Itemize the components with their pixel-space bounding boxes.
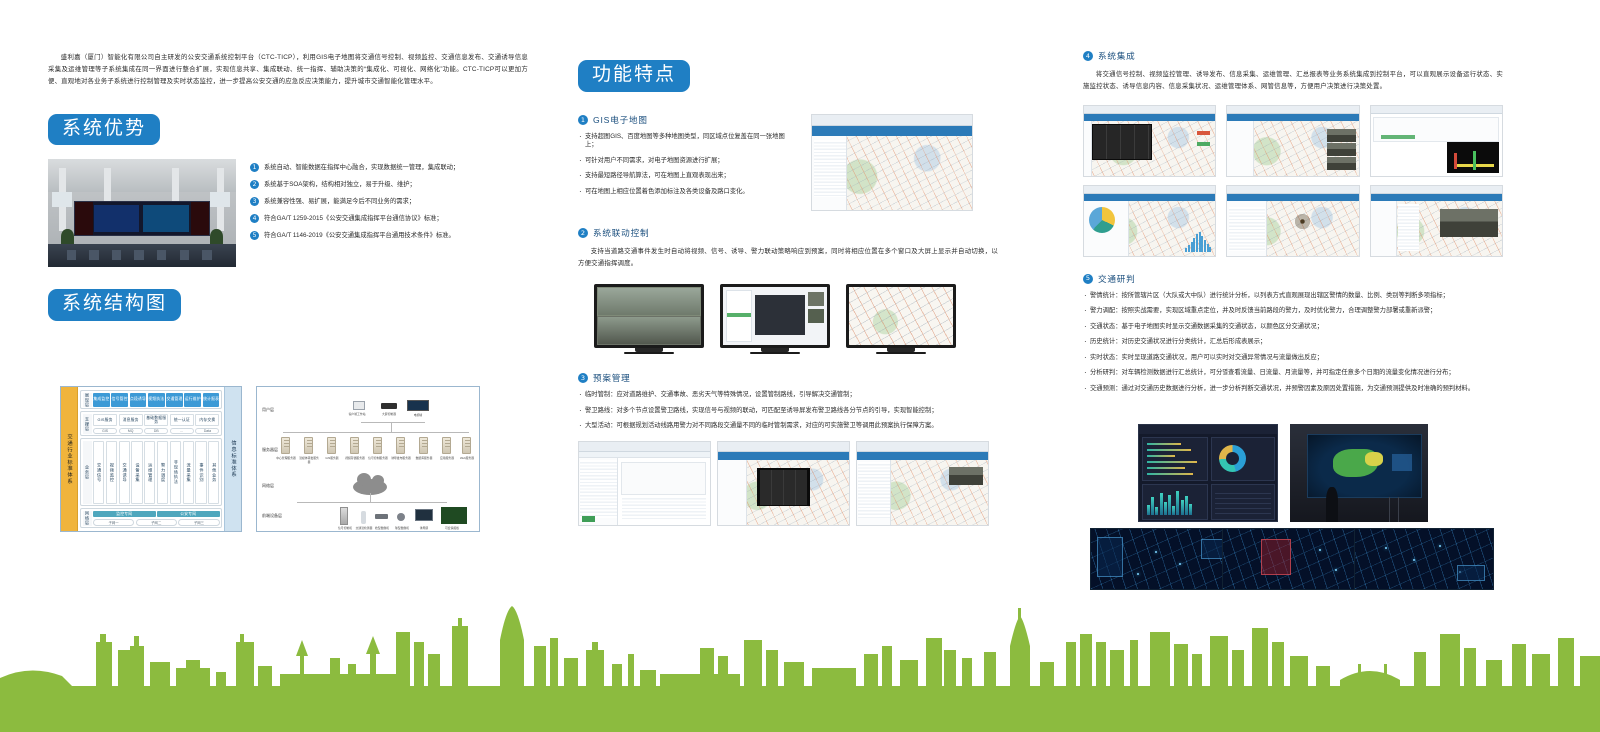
layer-label: 支撑层 [83, 414, 92, 434]
video-wall-icon [407, 400, 429, 411]
city-skyline-footer [0, 612, 1600, 732]
integration-screenshot [1226, 105, 1359, 177]
server-caption: 诱导发布服务器 [391, 456, 411, 460]
middle-column: 功能特点 1 GIS电子地图 支持超图GIS、百度地图等多种地图类型，同区域点位… [578, 60, 998, 526]
controller-icon [381, 403, 397, 409]
layer-cell: 信号管控 [111, 393, 128, 407]
layer-cell: 视频执法 [148, 393, 165, 407]
monitor-linkage-software [720, 284, 830, 355]
plan-execution-screenshot [856, 441, 989, 526]
feature-bullet: 临时管制：应对道路维护、交通事故、恶劣天气等特殊情况，设置管制路线，引导解决交通… [578, 391, 998, 400]
vms-board-icon [441, 507, 467, 524]
topology-row-label: 服务器层 [262, 447, 278, 453]
device-caption: 球型摄像机 [392, 526, 412, 530]
guidance-screen-icon [415, 509, 433, 521]
subnet-chip: 子网三 [178, 519, 219, 526]
integration-screenshot [1083, 105, 1216, 177]
server-caption: 视频存储服务器 [345, 456, 365, 460]
layer-cell: 基础数据服务 [144, 414, 168, 427]
analysis-bullet: 警情统计：按所管辖片区（大队或大中队）进行统计分析，以列表方式直观展现出辖区警情… [1083, 292, 1503, 301]
subsection-plan-management: 3 预案管理 [578, 372, 998, 384]
subnet-chip: 子网二 [136, 519, 177, 526]
device-caption: 诱导屏 [414, 526, 434, 530]
analysis-bullet: 历史统计：对历史交通状况进行分类统计，汇总后形成表展示； [1083, 338, 1503, 347]
layer-cell: 其他业务 [208, 441, 219, 504]
monitor-gis-map [846, 284, 956, 355]
layer-cell: 集成监控 [93, 393, 110, 407]
layer-cell: 内存交换 [195, 414, 219, 427]
detector-icon [361, 511, 366, 524]
list-item: 2 系统基于SOA架构，结构相对独立，易于升级、维护； [250, 180, 528, 190]
subsection-heading: 系统联动控制 [593, 227, 649, 239]
workstation-icon [353, 401, 365, 410]
integration-paragraph: 将交通信号控制、视频监控管理、诱导发布、信息采集、运维管理、汇总报表等业务系统集… [1083, 69, 1503, 93]
feature-bullet: 可在地图上相应位置着色添加标注及各类设备及路口变化。 [578, 188, 793, 197]
device-caption: 客户端工作站 [347, 412, 367, 416]
section-number: 1 [578, 115, 588, 125]
server-icon [304, 437, 313, 454]
server-caption: Web服务器 [457, 456, 477, 460]
intro-paragraph: 盛利嘉（厦门）智能化有限公司自主研发的公安交通系统控制平台（CTC-TICP），… [48, 52, 528, 88]
analysis-bullet: 分析研判：对车辆检测数据进行汇总统计，可分별查看流量、日流量、月流量等，并可指定… [1083, 369, 1503, 378]
layer-cell: 运维管理 [144, 441, 155, 504]
support-chip: MQ [119, 428, 143, 434]
integration-screenshot-grid [1083, 105, 1503, 257]
plan-list-screenshot [578, 441, 711, 526]
topology-row-label: 用户层 [262, 407, 274, 413]
layer-cell: 设备采集 [131, 441, 142, 504]
device-caption: 电视墙 [408, 413, 428, 417]
support-chip: ... [170, 428, 194, 434]
section-title-system-structure: 系统结构图 [48, 289, 181, 321]
analysis-bullet: 实时状态：实时呈现道路交通状况，用户可以实时对交通异常情况与流量做出反应； [1083, 354, 1503, 363]
bullet-number-1: 1 [250, 163, 259, 172]
monitor-video-wall [594, 284, 704, 355]
device-caption: 枪型摄像机 [372, 526, 392, 530]
support-chip: GIS [93, 428, 117, 434]
layer-label: 网络层 [83, 511, 92, 526]
signal-controller-icon [340, 507, 348, 525]
analysis-bullet: 交通预测：通过对交通历史数据进行分析，进一步分析判断交通状况，并预警因素及原因处… [1083, 385, 1503, 394]
layer-cell: 非现场执法 [170, 441, 181, 504]
section-title-system-advantage: 系统优势 [48, 114, 160, 146]
list-item: 3 系统兼容性强、易扩展，能满足今后不同业务的需求； [250, 197, 528, 207]
network-topology-diagram: 用户层 服务器层 网络层 前端设备层 客户端工作站 大屏控制器 电视墙 中心管理… [256, 386, 480, 532]
server-icon [419, 437, 428, 454]
topology-row-label: 前端设备层 [262, 513, 282, 519]
layer-cell: 交通管理 [166, 393, 183, 407]
layer-cell: 警力调度 [157, 441, 168, 504]
section-number: 3 [578, 373, 588, 383]
layer-cell: 事件识别 [195, 441, 206, 504]
layer-business: 业务层 交通信号 视频监控 交通诱导 设备采集 运维管理 警力调度 非现场执法 … [80, 438, 222, 506]
layer-cell: GIS服务 [93, 414, 117, 427]
device-caption: 信号控制机 [335, 526, 355, 530]
server-icon [442, 437, 451, 454]
server-caption: 中心管理服务器 [276, 456, 296, 460]
list-item: 4 符合GA/T 1259-2015《公安交通集成指挥平台通信协议》标准； [250, 214, 528, 224]
integration-screenshot [1370, 185, 1503, 257]
subsection-heading: GIS电子地图 [593, 114, 648, 126]
section-number: 2 [578, 228, 588, 238]
integration-screenshot [1226, 185, 1359, 257]
feature-bullet: 支持最短路径导航算法，可在地图上直观表现出来； [578, 172, 793, 181]
network-cell: 监控专网 [93, 511, 156, 517]
subsection-heading: 交通研判 [1098, 273, 1136, 285]
bigdata-dashboard-screenshot [1138, 424, 1278, 522]
signal-control-bigscreen [1222, 528, 1362, 590]
layer-label: 展现层 [83, 393, 92, 407]
subsection-linkage-control: 2 系统联动控制 [578, 227, 998, 239]
linkage-paragraph: 支持当道路交通事件发生时自动将视频、信号、诱导、警力联动策略响应到预案，同时将相… [578, 246, 998, 270]
bullet-number-4: 4 [250, 214, 259, 223]
layer-cell: 统一认证 [170, 414, 194, 427]
layer-support: 支撑层 GIS服务 消息服务 基础数据服务 统一认证 内存交换 GIS MQ [80, 411, 222, 436]
device-caption: 大屏控制器 [379, 412, 399, 416]
layer-cell: 运行维护 [184, 393, 201, 407]
support-chip: Data [195, 428, 219, 434]
subsection-heading: 系统集成 [1098, 50, 1136, 62]
integration-screenshot [1083, 185, 1216, 257]
server-icon [396, 437, 405, 454]
analysis-bullet: 警力调配：按照实战需要，实现区域重点定位，并及时反馈当前路段的警力，及时优化警力… [1083, 307, 1503, 316]
architecture-layer-diagram: 交通行业标准体系 展现层 集成监控 信号管控 点段诱导 视频执法 交通管理 运行… [60, 386, 242, 532]
advantage-text: 系统自动、智能数据在指挥中心融合，实现数据统一管理，集成联动； [264, 163, 459, 173]
advantage-text: 符合GA/T 1146-2019《公安交通集成指挥平台通用技术条件》标准。 [264, 231, 455, 241]
layer-cell: 交通诱导 [119, 441, 130, 504]
left-column: 盛利嘉（厦门）智能化有限公司自主研发的公安交通系统控制平台（CTC-TICP），… [48, 52, 528, 321]
layer-label: 业务层 [83, 441, 92, 504]
advantage-text: 系统兼容性强、易扩展，能满足今后不同业务的需求； [264, 197, 415, 207]
list-item: 1 系统自动、智能数据在指挥中心融合，实现数据统一管理，集成联动； [250, 163, 528, 173]
section-title-function-features: 功能特点 [578, 60, 690, 92]
support-chip: DB [144, 428, 168, 434]
feature-bullet: 可针对用户不同需求，对电子地图资源进行扩展； [578, 157, 793, 166]
server-icon [350, 437, 359, 454]
layer-cell: 点段诱导 [130, 393, 147, 407]
section-number: 5 [1083, 274, 1093, 284]
control-center-photo [48, 159, 236, 267]
subnet-chip: 子网一 [93, 519, 134, 526]
bullet-number-5: 5 [250, 231, 259, 240]
network-topology-bigscreen [1090, 528, 1230, 590]
axis-label-industry-standard: 交通行业标准体系 [61, 387, 78, 531]
layer-cell: 交通信号 [93, 441, 104, 504]
subsection-system-integration: 4 系统集成 [1083, 50, 1503, 62]
subsection-traffic-analysis: 5 交通研判 [1083, 273, 1503, 285]
layer-network: 网络层 监控专网 公安专网 子网一 子网二 子网三 [80, 508, 222, 528]
structure-diagrams: 交通行业标准体系 展现层 集成监控 信号管控 点段诱导 视频执法 交通管理 运行… [60, 386, 480, 532]
bullet-number-3: 3 [250, 197, 259, 206]
feature-bullet: 支持超图GIS、百度地图等多种地图类型，同区域点位复盖在同一张地图上； [578, 133, 793, 150]
regional-traffic-bigscreen [1354, 528, 1494, 590]
command-center-bigscreen-photo [1290, 424, 1428, 522]
server-icon [462, 437, 471, 454]
right-column: 4 系统集成 将交通信号控制、视频监控管理、诱导发布、信息采集、运维管理、汇总报… [1083, 50, 1503, 400]
bullet-number-2: 2 [250, 180, 259, 189]
dome-camera-icon [397, 513, 405, 521]
subsection-gis-map: 1 GIS电子地图 [578, 114, 793, 126]
feature-bullet: 大型活动：可根据规划活动线路用警力对不同路段交通量不同的临时管制需求，对应的可实… [578, 422, 998, 431]
server-icon [281, 437, 290, 454]
server-icon [373, 437, 382, 454]
ground-band [0, 686, 1600, 732]
layer-presentation: 展现层 集成监控 信号管控 点段诱导 视频执法 交通管理 运行维护 统计报表 [80, 390, 222, 409]
server-caption: 数据库服务器 [414, 456, 434, 460]
server-caption: 应用服务器 [437, 456, 457, 460]
feature-bullet: 警卫路线：对多个节点设置警卫路线，实现信号与视频的联动，可匹配至诱导屏发布警卫路… [578, 407, 998, 416]
layer-cell: 消息服务 [119, 414, 143, 427]
section-number: 4 [1083, 51, 1093, 61]
brochure-page: 盛利嘉（厦门）智能化有限公司自主研发的公安交通系统控制平台（CTC-TICP），… [0, 0, 1600, 732]
gis-map-screenshot [811, 114, 973, 211]
server-caption: 信号控制服务器 [368, 456, 388, 460]
analysis-bullet: 交通状态：基于电子地图实时显示交通数据采集的交通状态，以颜色区分交通状况； [1083, 323, 1503, 332]
plan-map-editor-screenshot [717, 441, 850, 526]
layer-cell: 视频监控 [106, 441, 117, 504]
advantage-text: 符合GA/T 1259-2015《公安交通集成指挥平台通信协议》标准； [264, 214, 443, 224]
advantage-list: 1 系统自动、智能数据在指挥中心融合，实现数据统一管理，集成联动； 2 系统基于… [250, 159, 528, 267]
advantage-text: 系统基于SOA架构，结构相对独立，易于升级、维护； [264, 180, 416, 190]
layer-cell: 流量采集 [183, 441, 194, 504]
axis-label-info-standard: 信息标准体系 [224, 387, 241, 531]
server-caption: GIS服务器 [322, 456, 342, 460]
network-cell: 公安专网 [157, 511, 220, 517]
integration-screenshot [1370, 105, 1503, 177]
device-caption: 可变情报板 [442, 526, 462, 530]
bullet-camera-icon [375, 514, 388, 519]
device-caption: 交通流检测器 [354, 526, 374, 530]
skyline-silhouette [0, 606, 1600, 692]
topology-row-label: 网络层 [262, 483, 274, 489]
list-item: 5 符合GA/T 1146-2019《公安交通集成指挥平台通用技术条件》标准。 [250, 231, 528, 241]
server-caption: 流媒体转发服务器 [299, 456, 319, 464]
server-icon [327, 437, 336, 454]
subsection-heading: 预案管理 [593, 372, 631, 384]
layer-cell: 统计报表 [203, 393, 220, 407]
